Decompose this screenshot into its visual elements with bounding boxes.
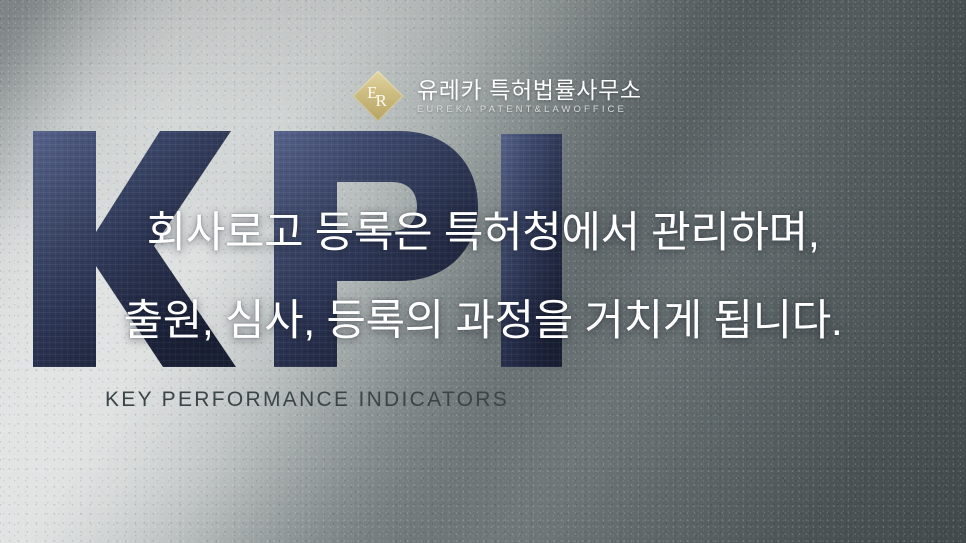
monogram-letter-r: R	[376, 92, 387, 109]
brand-logo-lockup[interactable]: ER 유레카 특허법률사무소 EUREKA PATENT&LAWOFFICE	[352, 70, 642, 122]
brand-name-korean: 유레카 특허법률사무소	[417, 77, 642, 103]
brand-name-block: 유레카 특허법률사무소 EUREKA PATENT&LAWOFFICE	[417, 77, 642, 116]
caption-line-1: 회사로고 등록은 특허청에서 관리하며,	[0, 212, 966, 255]
diamond-monogram-icon: ER	[352, 70, 404, 122]
monogram-letters: ER	[352, 70, 404, 122]
presentation-slide: ER 유레카 특허법률사무소 EUREKA PATENT&LAWOFFICE 회…	[0, 0, 966, 543]
caption-line-2: 출원, 심사, 등록의 과정을 거치게 됩니다.	[0, 300, 966, 343]
kpi-subtitle: KEY PERFORMANCE INDICATORS	[105, 389, 509, 410]
brand-name-english: EUREKA PATENT&LAWOFFICE	[417, 105, 642, 115]
